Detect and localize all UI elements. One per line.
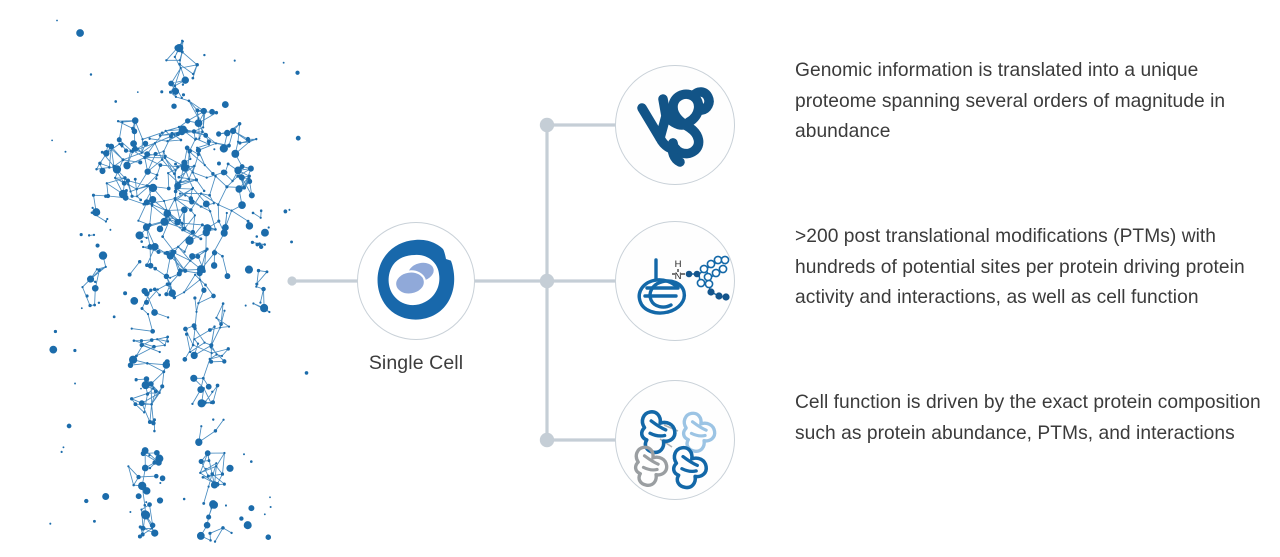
atom-label-h: H — [675, 259, 682, 270]
protein-composition-icon — [616, 381, 733, 498]
protein-c — [636, 447, 667, 485]
branch-text-2: >200 post translational modifications (P… — [795, 222, 1265, 314]
branch-text-1: Genomic information is translated into a… — [795, 56, 1265, 148]
branch-text-3: Cell function is driven by the exact pro… — [795, 388, 1265, 449]
ptm-glycan-icon: H N — [616, 222, 733, 339]
branch-icon-2-circle[interactable]: H N — [615, 221, 735, 341]
branch-icon-3-circle[interactable] — [615, 380, 735, 500]
protein-d — [674, 448, 707, 488]
branch-icon-1-circle[interactable] — [615, 65, 735, 185]
protein-ribbon-icon — [616, 66, 733, 183]
atom-label-n: N — [675, 271, 682, 282]
protein-b — [684, 413, 715, 451]
single-cell-node[interactable] — [357, 222, 475, 340]
infographic-canvas: Single Cell — [0, 0, 1280, 557]
single-cell-label: Single Cell — [296, 352, 536, 375]
